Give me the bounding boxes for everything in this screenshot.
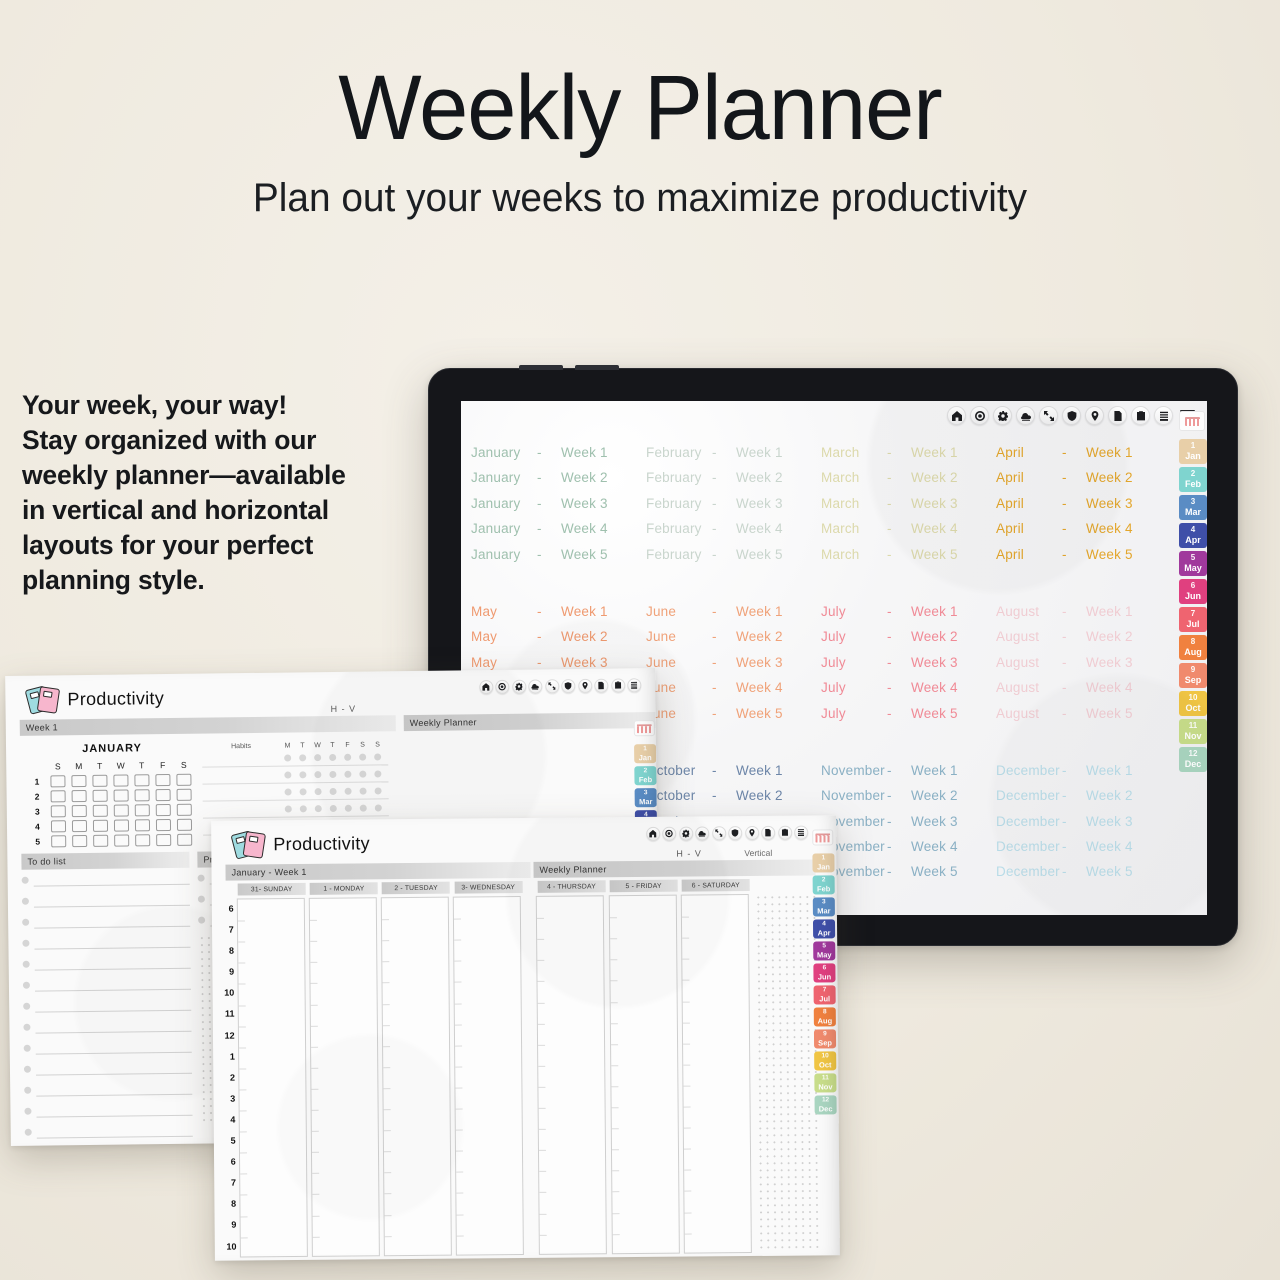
day-columns[interactable] [236,894,755,1257]
calendar-cell[interactable] [111,787,132,802]
week-index-row[interactable]: November-Week 4 [821,839,996,864]
month-tab-mar[interactable]: 3Mar [813,897,835,916]
hour-label: 9 [220,962,237,983]
target-icon[interactable] [495,680,509,694]
hour-label: 5 [222,1131,239,1152]
month-tab-number: 8 [814,1007,836,1016]
week-label: Week 2 [1086,788,1133,803]
habit-check-dot[interactable] [371,787,386,794]
month-label: July [821,706,887,721]
week-index-row[interactable]: April-Week 4 [996,521,1171,546]
habit-check-dot[interactable] [325,770,340,777]
week-index-row[interactable]: March-Week 2 [821,470,996,495]
habit-check-dot[interactable] [355,753,370,760]
calendar-icon[interactable] [1179,411,1205,431]
week-label: Week 5 [1086,706,1133,721]
separator: - [1062,763,1086,778]
month-tab-nov[interactable]: 11Nov [814,1073,836,1092]
month-tab-label: Jul [814,994,836,1005]
month-tab-number: 2 [634,766,656,775]
month-label: August [996,680,1062,695]
week-index-row[interactable]: July-Week 5 [821,706,996,731]
week-index-row[interactable]: March-Week 3 [821,496,996,521]
separator: - [1062,496,1086,511]
separator: - [537,470,561,485]
habit-check-dot[interactable] [280,771,295,778]
month-label: April [996,470,1062,485]
list-icon[interactable] [794,826,808,840]
week-label: Week 1 [736,604,783,619]
day-column[interactable] [309,897,380,1256]
separator: - [712,680,736,695]
location-pin-icon[interactable] [745,826,759,840]
month-tab-label: Apr [1179,535,1207,549]
planner-front-toolbar[interactable] [646,826,809,841]
week-label: Week 1 [736,445,783,460]
habit-check-dot[interactable] [310,771,325,778]
habit-check-dot[interactable] [325,753,340,760]
hour-label: 8 [222,1194,239,1215]
habit-check-dot[interactable] [370,753,385,760]
day-header[interactable]: 6 - SATURDAY [682,879,750,892]
month-label: July [821,680,887,695]
week-index-row[interactable]: May-Week 1 [471,604,646,629]
week-index-row[interactable]: August-Week 4 [996,680,1171,705]
day-column[interactable] [381,897,452,1256]
week-index-row[interactable]: April-Week 3 [996,496,1171,521]
month-label: April [996,547,1062,562]
hour-label: 10 [223,1236,240,1257]
habit-name-field[interactable] [203,792,281,793]
week-index-row[interactable]: June-Week 4 [646,680,821,705]
month-tab-aug[interactable]: 8Aug [1179,635,1207,660]
shield-icon[interactable] [728,826,742,840]
month-tab-number: 3 [813,897,835,906]
month-tab-dec[interactable]: 12Dec [1179,747,1207,772]
week-index-row[interactable]: August-Week 1 [996,604,1171,629]
habit-check-dot[interactable] [310,754,325,761]
blurb-line: planning style. [22,563,402,598]
todo-item[interactable] [24,1057,192,1080]
habit-check-dot[interactable] [371,804,386,811]
separator: - [712,445,736,460]
month-tab-may[interactable]: 5May [813,941,835,960]
calendar-cell[interactable] [153,802,174,817]
month-label: June [646,706,712,721]
habit-check-dot[interactable] [281,788,296,795]
cloud-icon[interactable] [528,679,542,693]
week-index-row[interactable]: February-Week 4 [646,521,821,546]
month-tab-jan[interactable]: 1Jan [634,744,656,763]
separator: - [887,706,911,721]
hour-label: 10 [221,983,238,1004]
calendar-cell[interactable] [48,803,69,818]
month-label: December [996,839,1062,854]
week-label: Week 1 [561,445,608,460]
week-index-row[interactable]: January-Week 2 [471,470,646,495]
marketing-blurb: Your week, your way!Stay organized with … [22,388,402,598]
habit-check-dot[interactable] [355,770,370,777]
calendar-cell[interactable] [90,803,111,818]
bag-icon[interactable] [778,826,792,840]
calendar-cell[interactable] [131,772,152,787]
todo-item[interactable] [22,889,190,912]
month-label: June [646,655,712,670]
cloud-icon[interactable] [695,826,709,840]
calendar-row-number: 2 [27,788,48,803]
bag-icon[interactable] [1131,406,1150,425]
location-pin-icon[interactable] [578,679,592,693]
month-tab-jan[interactable]: 1Jan [812,853,834,872]
month-label: May [471,629,537,644]
day-header[interactable]: 3- WEDNESDAY [454,881,522,894]
month-tab-mar[interactable]: 3Mar [635,788,657,807]
todo-item[interactable] [24,1099,192,1122]
habit-check-dot[interactable] [340,753,355,760]
month-tab-number: 6 [1179,579,1207,591]
tablet-month-rail[interactable]: 1Jan2Feb3Mar4Apr5May6Jun7Jul8Aug9Sep10Oc… [1177,411,1207,775]
gear-icon[interactable] [679,827,693,841]
habit-check-dot[interactable] [370,770,385,777]
month-tab-mar[interactable]: 3Mar [1179,495,1207,520]
home-icon[interactable] [947,406,966,425]
week-label: Week 2 [736,629,783,644]
week-index-row[interactable]: February-Week 1 [646,445,821,470]
week-index-row[interactable]: February-Week 2 [646,470,821,495]
habit-check-dot[interactable] [296,788,311,795]
list-icon[interactable] [1154,406,1173,425]
day-column[interactable] [536,895,607,1254]
week-index-row[interactable]: December-Week 5 [996,864,1171,889]
calendar-icon[interactable] [812,829,833,845]
home-icon[interactable] [479,680,493,694]
todo-item[interactable] [22,868,190,891]
week-index-row[interactable]: July-Week 1 [821,604,996,629]
day-header[interactable]: 5 - FRIDAY [610,880,678,893]
layout-toggle-hv[interactable]: H - V [676,848,702,858]
separator: - [887,655,911,670]
gear-icon[interactable] [993,406,1012,425]
week-index-row[interactable]: December-Week 3 [996,814,1171,839]
week-index-row[interactable]: August-Week 5 [996,706,1171,731]
todo-item[interactable] [22,910,190,933]
week-index-row[interactable]: July-Week 4 [821,680,996,705]
document-icon[interactable] [761,826,775,840]
hour-label: 9 [223,1215,240,1236]
week-label: Week 5 [1086,864,1133,879]
month-tab-jan[interactable]: 1Jan [1179,439,1207,464]
calendar-cell[interactable] [89,773,110,788]
week-index-row[interactable]: February-Week 3 [646,496,821,521]
month-tab-label: Apr [813,928,835,939]
habit-check-dot[interactable] [341,804,356,811]
habit-check-dot[interactable] [341,787,356,794]
hour-grid[interactable]: 678910111212345678910 [220,893,823,1257]
week-index-row[interactable]: April-Week 5 [996,547,1171,572]
week-index-row[interactable]: March-Week 5 [821,547,996,572]
bag-icon[interactable] [611,678,625,692]
calendar-cell[interactable] [111,817,132,832]
calendar-cell[interactable] [69,803,90,818]
day-column[interactable] [453,896,524,1255]
week-label: Week 2 [911,470,958,485]
calendar-cell[interactable] [69,788,90,803]
habit-check-dot[interactable] [356,804,371,811]
separator: - [1062,547,1086,562]
separator: - [537,655,561,670]
todo-item[interactable] [23,1015,191,1038]
week-index-row[interactable]: July-Week 3 [821,655,996,680]
shield-icon[interactable] [561,679,575,693]
habit-check-dot[interactable] [296,805,311,812]
week-index-row[interactable]: June-Week 1 [646,604,821,629]
calendar-cell[interactable] [111,802,132,817]
todo-item[interactable] [23,973,191,996]
month-tab-label: Jun [1179,591,1207,605]
month-label: January [471,496,537,511]
day-column[interactable] [236,898,307,1257]
calendar-grid[interactable]: SMTWTFS12345 [26,760,195,849]
month-tab-number: 5 [813,941,835,950]
month-tab-dec[interactable]: 12Dec [815,1095,837,1114]
week-label: Week 2 [1086,629,1133,644]
month-tab-oct[interactable]: 10Oct [814,1051,836,1070]
week-label: Week 3 [561,496,608,511]
month-tab-jul[interactable]: 7Jul [814,985,836,1004]
calendar-cell[interactable] [153,832,174,847]
month-tab-feb[interactable]: 2Feb [634,766,656,785]
week-label: Week 4 [911,839,958,854]
day-header[interactable]: 2 - TUESDAY [382,882,450,895]
location-pin-icon[interactable] [1085,406,1104,425]
week-index-row[interactable]: April-Week 1 [996,445,1171,470]
calendar-cell[interactable] [174,802,195,817]
tablet-toolbar[interactable] [947,406,1195,425]
week-index-row[interactable]: March-Week 4 [821,521,996,546]
week-index-row[interactable]: November-Week 2 [821,788,996,813]
separator: - [537,496,561,511]
calendar-cell[interactable] [48,833,69,848]
week-index-row[interactable]: October-Week 1 [646,763,821,788]
calendar-cell[interactable] [68,773,89,788]
calendar-cell[interactable] [153,787,174,802]
calendar-cell[interactable] [153,817,174,832]
blurb-line: weekly planner—available [22,458,402,493]
calendar-cell[interactable] [90,833,111,848]
habit-check-dot[interactable] [295,771,310,778]
week-label: Week 5 [911,547,958,562]
month-tab-label: Feb [813,884,835,895]
calendar-cell[interactable] [111,832,132,847]
target-icon[interactable] [662,827,676,841]
habit-check-dot[interactable] [280,754,295,761]
todo-list[interactable]: To do list [21,852,193,1143]
month-tab-label: Mar [813,906,835,917]
week-index-row[interactable]: May-Week 2 [471,629,646,654]
month-tab-number: 12 [1179,747,1207,759]
separator: - [537,629,561,644]
month-tab-number: 7 [1179,607,1207,619]
home-icon[interactable] [646,827,660,841]
month-tab-sep[interactable]: 9Sep [1179,663,1207,688]
day-header[interactable]: 4 - THURSDAY [537,880,605,893]
planner-front-month-rail[interactable]: 1Jan2Feb3Mar4Apr5May6Jun7Jul8Aug9Sep10Oc… [810,829,837,1117]
calendar-cell[interactable] [90,788,111,803]
week-index-row[interactable]: June-Week 2 [646,629,821,654]
calendar-cell[interactable] [132,817,153,832]
week-index-row[interactable]: December-Week 4 [996,839,1171,864]
expand-arrows-icon[interactable] [712,826,726,840]
calendar-cell[interactable] [174,787,195,802]
calendar-cell[interactable] [132,802,153,817]
month-tab-nov[interactable]: 11Nov [1179,719,1207,744]
calendar-cell[interactable] [69,833,90,848]
month-label: December [996,864,1062,879]
month-tab-feb[interactable]: 2Feb [1179,467,1207,492]
todo-item[interactable] [24,1036,192,1059]
week-label: Week 4 [1086,521,1133,536]
week-label: Week 1 [911,763,958,778]
cloud-icon[interactable] [1016,406,1035,425]
hour-label: 7 [220,920,237,941]
brand-label: Productivity [67,688,164,710]
hour-label: 2 [221,1067,238,1088]
week-index-row[interactable]: January-Week 3 [471,496,646,521]
calendar-cell[interactable] [69,818,90,833]
habit-check-dot[interactable] [295,754,310,761]
week-index-row[interactable]: June-Week 5 [646,706,821,731]
habit-check-dot[interactable] [356,787,371,794]
week-index-row[interactable]: January-Week 4 [471,521,646,546]
habit-name-field[interactable] [203,809,281,810]
todo-item[interactable] [23,994,191,1017]
month-calendar[interactable]: JANUARY SMTWTFS12345 [26,742,199,849]
week-index-row[interactable]: February-Week 5 [646,547,821,572]
habit-name-field[interactable] [202,775,280,776]
week-index-row[interactable]: December-Week 1 [996,763,1171,788]
separator: - [712,604,736,619]
habits-day-header: W [310,742,325,749]
week-index-row[interactable]: March-Week 1 [821,445,996,470]
week-index-row[interactable]: August-Week 3 [996,655,1171,680]
week-index-row[interactable]: December-Week 2 [996,788,1171,813]
week-label: Week 3 [1086,655,1133,670]
week-index-row[interactable]: August-Week 2 [996,629,1171,654]
month-tab-label: Aug [814,1016,836,1027]
day-column[interactable] [681,894,752,1253]
habit-check-dot[interactable] [311,788,326,795]
todo-item[interactable] [22,931,190,954]
habit-check-dot[interactable] [281,805,296,812]
month-tab-number: 4 [1179,523,1207,535]
target-icon[interactable] [970,406,989,425]
week-label: Week 3 [911,655,958,670]
week-index-row[interactable]: November-Week 1 [821,763,996,788]
calendar-cell[interactable] [110,772,131,787]
week-index-row[interactable]: April-Week 2 [996,470,1171,495]
month-tab-label: Nov [1179,731,1207,745]
separator: - [537,445,561,460]
calendar-icon[interactable] [634,720,655,736]
todo-item[interactable] [25,1120,193,1143]
calendar-cell[interactable] [48,818,69,833]
month-tab-may[interactable]: 5May [1179,551,1207,576]
blurb-line: Stay organized with our [22,423,402,458]
month-label: July [821,604,887,619]
week-index-row[interactable]: November-Week 3 [821,814,996,839]
month-tab-jun[interactable]: 6Jun [813,963,835,982]
month-tab-apr[interactable]: 4Apr [813,919,835,938]
month-tab-jun[interactable]: 6Jun [1179,579,1207,604]
hour-label: 12 [221,1025,238,1046]
month-label: December [996,788,1062,803]
hour-label: 7 [222,1173,239,1194]
document-icon[interactable] [1108,406,1127,425]
document-icon[interactable] [594,679,608,693]
month-tab-feb[interactable]: 2Feb [813,875,835,894]
todo-item[interactable] [23,952,191,975]
week-index-row[interactable]: October-Week 2 [646,788,821,813]
habit-check-dot[interactable] [340,770,355,777]
habit-check-dot[interactable] [326,804,341,811]
shield-icon[interactable] [1062,406,1081,425]
day-column[interactable] [608,895,679,1254]
day-header[interactable]: 1 - MONDAY [310,882,378,895]
week-label: Week 1 [1086,445,1133,460]
list-icon[interactable] [627,678,641,692]
month-tab-sep[interactable]: 9Sep [814,1029,836,1048]
calendar-cell[interactable] [132,832,153,847]
week-index-row[interactable]: January-Week 1 [471,445,646,470]
week-index-row[interactable]: July-Week 2 [821,629,996,654]
expand-arrows-icon[interactable] [545,679,559,693]
month-tab-number: 1 [634,744,656,753]
month-tab-label: Oct [814,1060,836,1071]
todo-item[interactable] [24,1078,192,1101]
day-header[interactable]: 31- SUNDAY [238,883,306,896]
calendar-cell[interactable] [174,832,195,847]
week-label: Week 4 [736,521,783,536]
month-tab-jul[interactable]: 7Jul [1179,607,1207,632]
habit-check-dot[interactable] [326,787,341,794]
gear-icon[interactable] [512,680,526,694]
month-tab-apr[interactable]: 4Apr [1179,523,1207,548]
planner-back-brand: Productivity [27,686,164,713]
habit-name-field[interactable] [202,758,280,759]
calendar-month-label: JANUARY [26,742,198,756]
month-tab-oct[interactable]: 10Oct [1179,691,1207,716]
week-index-row[interactable]: November-Week 5 [821,864,996,889]
week-label: Week 4 [1086,680,1133,695]
calendar-cell[interactable] [174,817,195,832]
calendar-cell[interactable] [132,787,153,802]
calendar-cell[interactable] [48,788,69,803]
calendar-cell[interactable] [152,772,173,787]
separator: - [712,470,736,485]
week-label: Week 4 [736,680,783,695]
calendar-cell[interactable] [173,772,194,787]
habit-check-dot[interactable] [311,805,326,812]
month-tab-aug[interactable]: 8Aug [814,1007,836,1026]
planner-back-toolbar[interactable] [479,678,642,694]
week-index-row[interactable]: January-Week 5 [471,547,646,572]
week-index-row[interactable]: June-Week 3 [646,655,821,680]
calendar-cell[interactable] [90,818,111,833]
calendar-row: 5 [27,832,195,849]
calendar-cell[interactable] [47,773,68,788]
layout-toggle-hv[interactable]: H - V [331,704,357,714]
expand-arrows-icon[interactable] [1039,406,1058,425]
